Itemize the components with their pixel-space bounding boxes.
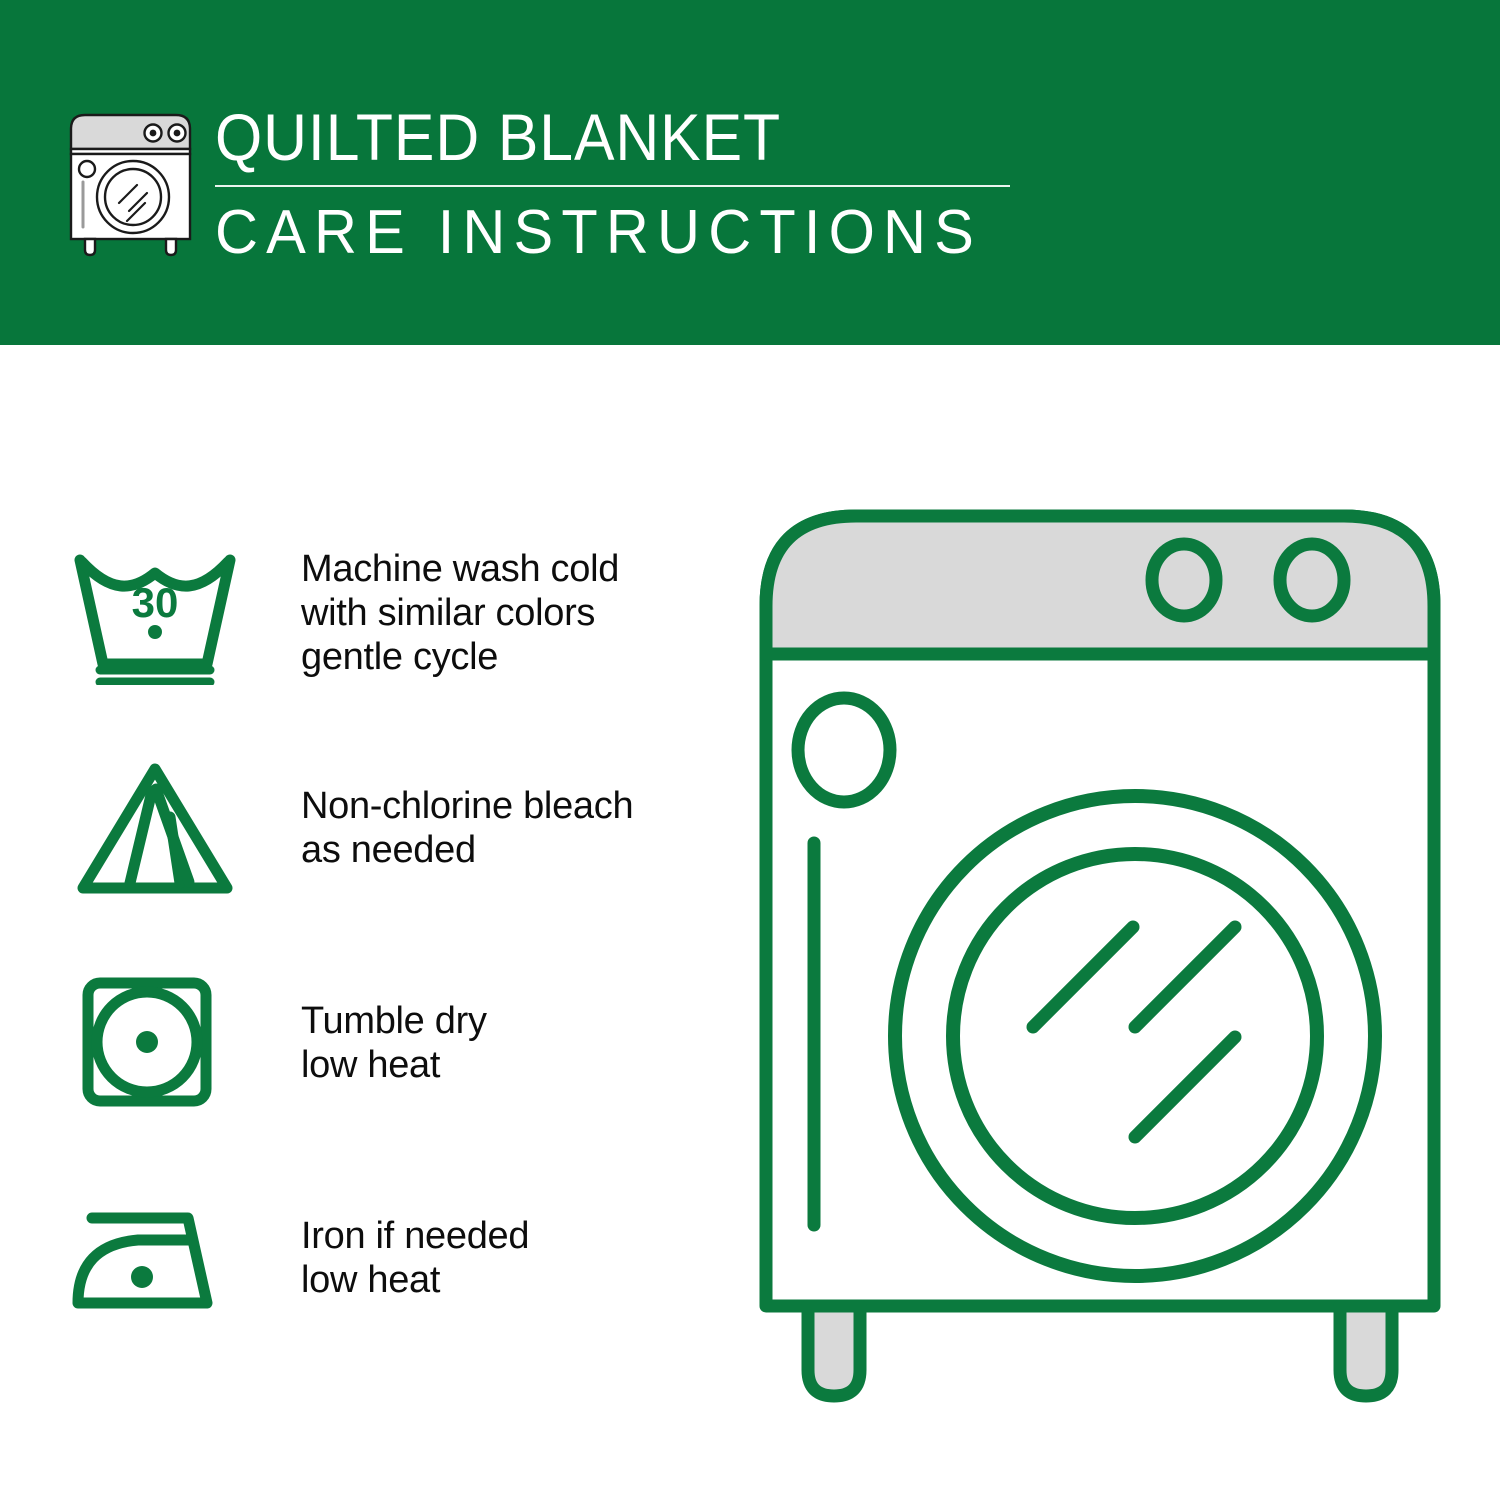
non-chlorine-bleach-triangle-icon [70,755,245,900]
care-line: Tumble dry [301,999,487,1043]
knob-left [1152,544,1216,616]
care-line: gentle cycle [301,635,619,679]
knob-right [1280,544,1344,616]
title-divider [215,185,1010,187]
drum-inner-ring [953,854,1317,1218]
care-line: Machine wash cold [301,547,619,591]
care-line: with similar colors [301,591,619,635]
care-line: low heat [301,1043,487,1087]
care-row-machine-wash: 30 Machine wash cold with similar colors… [70,505,710,720]
wash-tub-30-icon: 30 [70,540,245,685]
care-instructions-infographic: QUILTED BLANKET CARE INSTRUCTIONS 30 Mac… [0,0,1500,1500]
header-banner: QUILTED BLANKET CARE INSTRUCTIONS [0,0,1500,345]
care-text-bleach: Non-chlorine bleach as needed [245,784,633,872]
leg-right [1340,1306,1392,1396]
tumble-dry-low-icon [70,970,245,1115]
leg-left [808,1306,860,1396]
care-text-tumble-dry: Tumble dry low heat [245,999,487,1087]
page-subtitle: CARE INSTRUCTIONS [215,197,983,269]
care-line: Iron if needed [301,1214,529,1258]
care-instruction-list: 30 Machine wash cold with similar colors… [70,505,710,1365]
care-line: as needed [301,828,633,872]
care-row-iron: Iron if needed low heat [70,1150,710,1365]
page-title: QUILTED BLANKET [215,98,951,176]
svg-text:30: 30 [132,579,179,626]
care-line: Non-chlorine bleach [301,784,633,828]
care-row-tumble-dry: Tumble dry low heat [70,935,710,1150]
iron-low-heat-icon [70,1193,245,1323]
care-text-iron: Iron if needed low heat [245,1214,529,1302]
care-row-bleach: Non-chlorine bleach as needed [70,720,710,935]
detergent-dispenser [798,698,890,802]
header-text-block: QUILTED BLANKET CARE INSTRUCTIONS [215,98,1015,269]
care-text-machine-wash: Machine wash cold with similar colors ge… [245,547,619,679]
care-line: low heat [301,1258,529,1302]
front-load-washing-machine-illustration [750,500,1450,1410]
washing-machine-icon [63,103,198,263]
